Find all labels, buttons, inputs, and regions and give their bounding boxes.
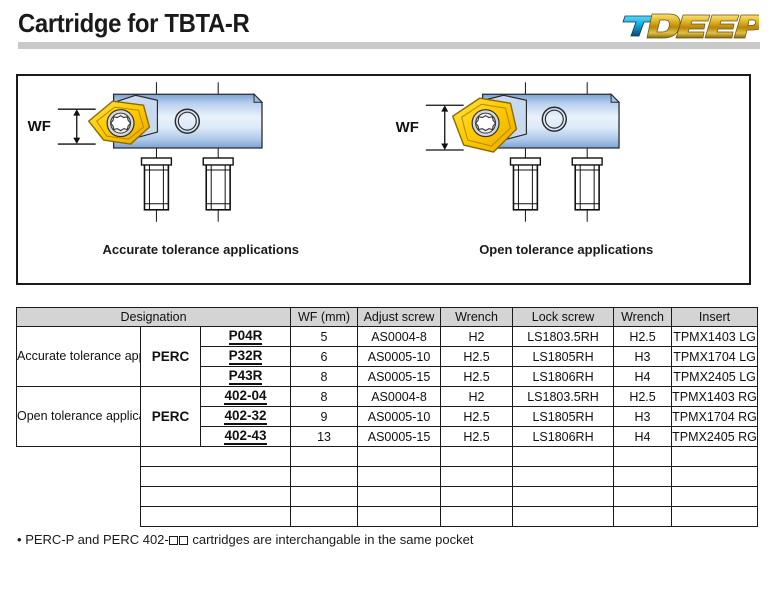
designation-code: 402-32 bbox=[201, 407, 291, 427]
cartridge-diagram-open: WF bbox=[384, 82, 750, 232]
blank-cell bbox=[201, 507, 291, 527]
blank-cell bbox=[201, 467, 291, 487]
cell-wrench-1: H2.5 bbox=[441, 367, 513, 387]
table-row-blank bbox=[17, 467, 758, 487]
blank-cell bbox=[672, 507, 758, 527]
designation-code: P43R bbox=[201, 367, 291, 387]
cell-insert: TPMX2405 LG bbox=[672, 367, 758, 387]
blank-cell bbox=[358, 467, 441, 487]
cell-lock-screw: LS1806RH bbox=[513, 427, 614, 447]
cell-insert: TPMX2405 RG bbox=[672, 427, 758, 447]
blank-cell bbox=[614, 507, 672, 527]
wf-dimension bbox=[58, 109, 96, 144]
cell-wf: 5 bbox=[291, 327, 358, 347]
specification-table: Designation WF (mm) Adjust screw Wrench … bbox=[16, 307, 758, 527]
designation-code: P32R bbox=[201, 347, 291, 367]
blank-cell bbox=[291, 447, 358, 467]
cell-lock-screw: LS1803.5RH bbox=[513, 387, 614, 407]
cell-wf: 8 bbox=[291, 367, 358, 387]
blank-cell bbox=[614, 487, 672, 507]
cell-wf: 6 bbox=[291, 347, 358, 367]
cell-insert: TPMX1403 RG bbox=[672, 387, 758, 407]
blank-cell bbox=[672, 467, 758, 487]
cell-adjust-screw: AS0005-10 bbox=[358, 407, 441, 427]
cell-insert: TPMX1704 LG bbox=[672, 347, 758, 367]
table-row-blank bbox=[17, 487, 758, 507]
blank-cell bbox=[358, 487, 441, 507]
figure-accurate-tolerance: WF Accurate tolerance applications bbox=[18, 76, 384, 283]
footnote-text-after: cartridges are interchangable in the sam… bbox=[192, 532, 473, 547]
cell-adjust-screw: AS0005-10 bbox=[358, 347, 441, 367]
designation-code: 402-43 bbox=[201, 427, 291, 447]
cell-wrench-2: H3 bbox=[614, 407, 672, 427]
wf-dimension-label: WF bbox=[395, 119, 418, 136]
torx-clamp-screw bbox=[107, 110, 134, 137]
figure-open-tolerance: WF Open tolerance applications bbox=[384, 76, 750, 283]
cell-wrench-2: H4 bbox=[614, 367, 672, 387]
cell-wrench-2: H4 bbox=[614, 427, 672, 447]
cell-wrench-1: H2.5 bbox=[441, 347, 513, 367]
torx-clamp-screw bbox=[472, 110, 499, 137]
blank-cell bbox=[141, 507, 201, 527]
blank-cell bbox=[17, 447, 141, 467]
cell-wrench-1: H2.5 bbox=[441, 407, 513, 427]
blank-cell bbox=[614, 467, 672, 487]
cell-wrench-1: H2 bbox=[441, 327, 513, 347]
footnote-text-before: PERC-P and PERC 402- bbox=[25, 532, 169, 547]
blank-cell bbox=[291, 507, 358, 527]
tdeep-brand-logo bbox=[619, 11, 759, 41]
blank-cell bbox=[672, 447, 758, 467]
footnote-note: • PERC-P and PERC 402- cartridges are in… bbox=[17, 532, 473, 547]
header-lock-screw: Lock screw bbox=[513, 308, 614, 327]
blank-cell bbox=[513, 467, 614, 487]
cell-wf: 8 bbox=[291, 387, 358, 407]
header-adjust-screw: Adjust screw bbox=[358, 308, 441, 327]
cell-wf: 9 bbox=[291, 407, 358, 427]
cell-adjust-screw: AS0005-15 bbox=[358, 427, 441, 447]
header-wf: WF (mm) bbox=[291, 308, 358, 327]
lock-screw-symbol bbox=[203, 158, 233, 210]
blank-cell bbox=[513, 507, 614, 527]
specification-table-container: Designation WF (mm) Adjust screw Wrench … bbox=[16, 307, 757, 527]
cell-wrench-1: H2 bbox=[441, 387, 513, 407]
wf-dimension-label: WF bbox=[28, 118, 51, 135]
blank-cell bbox=[441, 487, 513, 507]
footnote-bullet: • bbox=[17, 532, 22, 547]
figure-caption-open: Open tolerance applications bbox=[384, 242, 750, 257]
figure-caption-accurate: Accurate tolerance applications bbox=[18, 242, 384, 257]
designation-code: 402-04 bbox=[201, 387, 291, 407]
blank-cell bbox=[358, 507, 441, 527]
placeholder-box-icon bbox=[169, 536, 178, 545]
page-header: Cartridge for TBTA-R bbox=[0, 0, 775, 60]
prefix-perc-open: PERC bbox=[141, 387, 201, 447]
page-title: Cartridge for TBTA-R bbox=[18, 8, 249, 39]
prefix-perc-accurate: PERC bbox=[141, 327, 201, 387]
blank-cell bbox=[17, 467, 141, 487]
logo-wordmark-deep bbox=[647, 14, 759, 38]
header-insert: Insert bbox=[672, 308, 758, 327]
header-designation: Designation bbox=[17, 308, 291, 327]
designation-code: P04R bbox=[201, 327, 291, 347]
table-header-row: Designation WF (mm) Adjust screw Wrench … bbox=[17, 308, 758, 327]
header-wrench-2: Wrench bbox=[614, 308, 672, 327]
blank-cell bbox=[441, 507, 513, 527]
cell-wrench-2: H2.5 bbox=[614, 387, 672, 407]
cell-wf: 13 bbox=[291, 427, 358, 447]
blank-cell bbox=[201, 447, 291, 467]
table-row-blank bbox=[17, 507, 758, 527]
adjust-screw-symbol bbox=[141, 158, 171, 210]
blank-cell bbox=[441, 447, 513, 467]
header-wrench-1: Wrench bbox=[441, 308, 513, 327]
blank-cell bbox=[291, 467, 358, 487]
blank-cell bbox=[141, 487, 201, 507]
blank-cell bbox=[141, 447, 201, 467]
cell-lock-screw: LS1803.5RH bbox=[513, 327, 614, 347]
cell-lock-screw: LS1805RH bbox=[513, 347, 614, 367]
application-label-open: Open tolerance applications bbox=[17, 387, 141, 447]
blank-cell bbox=[17, 487, 141, 507]
cell-wrench-1: H2.5 bbox=[441, 427, 513, 447]
table-row: Open tolerance applications PERC 402-04 … bbox=[17, 387, 758, 407]
adjust-screw-symbol bbox=[510, 158, 540, 210]
cell-adjust-screw: AS0004-8 bbox=[358, 327, 441, 347]
blank-cell bbox=[441, 467, 513, 487]
blank-cell bbox=[672, 487, 758, 507]
cell-insert: TPMX1403 LG bbox=[672, 327, 758, 347]
blank-cell bbox=[513, 487, 614, 507]
lock-screw-symbol bbox=[572, 158, 602, 210]
cell-lock-screw: LS1805RH bbox=[513, 407, 614, 427]
figure-panel: WF Accurate tolerance applications bbox=[16, 74, 751, 285]
cell-lock-screw: LS1806RH bbox=[513, 367, 614, 387]
cell-adjust-screw: AS0004-8 bbox=[358, 387, 441, 407]
header-divider-rule bbox=[18, 42, 760, 49]
blank-cell bbox=[291, 487, 358, 507]
blank-cell bbox=[513, 447, 614, 467]
blank-cell bbox=[201, 487, 291, 507]
blank-cell bbox=[614, 447, 672, 467]
application-label-accurate: Accurate tolerance applications bbox=[17, 327, 141, 387]
blank-cell bbox=[17, 507, 141, 527]
cell-insert: TPMX1704 RG bbox=[672, 407, 758, 427]
cartridge-diagram-accurate: WF bbox=[18, 82, 384, 232]
blank-cell bbox=[358, 447, 441, 467]
cell-adjust-screw: AS0005-15 bbox=[358, 367, 441, 387]
table-row-blank bbox=[17, 447, 758, 467]
blank-cell bbox=[141, 467, 201, 487]
table-row: Accurate tolerance applications PERC P04… bbox=[17, 327, 758, 347]
cell-wrench-2: H2.5 bbox=[614, 327, 672, 347]
placeholder-box-icon bbox=[179, 536, 188, 545]
cell-wrench-2: H3 bbox=[614, 347, 672, 367]
